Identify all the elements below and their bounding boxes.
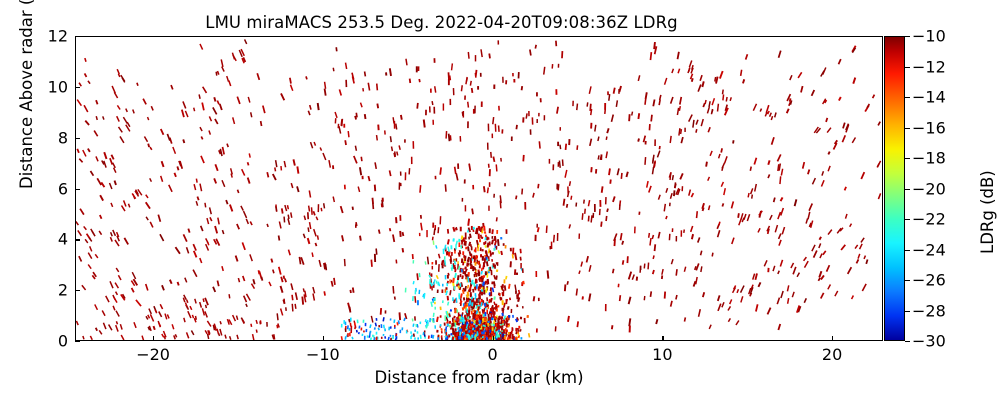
data-point <box>812 178 815 184</box>
data-point <box>708 127 710 132</box>
data-point <box>839 97 841 101</box>
data-point <box>350 307 351 313</box>
data-point <box>468 263 469 265</box>
data-point <box>253 279 254 284</box>
data-point <box>611 115 613 122</box>
x-tick-mark <box>323 336 324 341</box>
data-point <box>290 78 291 84</box>
data-point <box>375 162 376 168</box>
data-point <box>150 178 152 181</box>
data-point <box>82 285 86 290</box>
data-point <box>756 304 758 311</box>
data-point <box>437 317 438 322</box>
data-point <box>267 172 268 177</box>
data-point <box>755 273 757 279</box>
data-point <box>638 75 639 81</box>
data-point <box>356 113 357 118</box>
data-point <box>737 289 738 293</box>
data-point <box>217 329 219 335</box>
colorbar-tick-label: −12 <box>912 57 946 76</box>
data-point <box>388 337 389 340</box>
data-point <box>174 335 175 339</box>
data-point <box>200 44 203 50</box>
data-point <box>210 207 212 214</box>
data-point <box>368 83 369 91</box>
colorbar-tick-label: −30 <box>912 332 946 351</box>
data-point <box>471 244 472 247</box>
plot-axes <box>75 36 883 341</box>
data-point <box>83 336 84 339</box>
data-point <box>410 79 411 83</box>
data-point <box>843 123 845 129</box>
data-point <box>538 184 539 188</box>
data-point <box>626 172 627 177</box>
data-point <box>192 315 193 318</box>
data-point <box>675 182 676 187</box>
data-point <box>308 111 310 115</box>
data-point <box>379 230 380 234</box>
data-point <box>183 139 184 143</box>
data-point <box>781 169 782 176</box>
data-point <box>670 136 671 143</box>
data-point <box>375 327 376 329</box>
y-tick-mark <box>75 87 80 88</box>
data-point <box>718 304 721 311</box>
data-point <box>579 271 580 274</box>
data-point <box>860 244 863 249</box>
data-point <box>233 315 236 321</box>
y-tick-mark <box>75 290 80 291</box>
data-point <box>90 246 92 251</box>
data-point <box>376 249 377 255</box>
data-point <box>758 282 760 286</box>
data-point <box>161 129 164 135</box>
data-point <box>390 228 391 231</box>
data-point <box>539 141 540 148</box>
data-point <box>90 336 92 340</box>
colorbar-tick-label: −16 <box>912 118 946 137</box>
data-point <box>707 107 709 113</box>
data-point <box>475 295 476 299</box>
data-point <box>650 291 651 297</box>
data-point <box>662 269 663 275</box>
data-point <box>146 202 150 208</box>
data-point <box>213 107 217 114</box>
data-point <box>95 304 98 309</box>
data-point <box>464 240 465 243</box>
data-point <box>632 112 633 116</box>
data-point <box>167 134 169 141</box>
data-point <box>237 97 240 104</box>
data-point <box>95 254 98 258</box>
data-point <box>470 320 471 325</box>
data-point <box>329 160 330 168</box>
y-tick-label: 4 <box>28 230 68 249</box>
data-point <box>424 119 425 127</box>
data-point <box>146 316 148 319</box>
data-point <box>589 86 591 93</box>
data-point <box>150 314 153 321</box>
data-point <box>812 245 815 251</box>
data-point <box>250 254 252 261</box>
data-point <box>171 85 173 89</box>
data-point <box>314 142 315 146</box>
data-point <box>770 215 772 220</box>
data-point <box>741 296 743 302</box>
data-point <box>779 234 781 239</box>
data-point <box>691 193 693 197</box>
data-point <box>489 53 490 58</box>
data-point <box>214 178 216 183</box>
data-point <box>827 128 831 133</box>
data-point <box>461 85 462 91</box>
data-point <box>613 269 614 273</box>
data-point <box>462 236 463 240</box>
data-point <box>779 240 781 246</box>
data-point <box>671 301 672 307</box>
data-point <box>791 263 794 268</box>
data-point <box>293 159 294 165</box>
data-point <box>821 180 824 186</box>
data-point <box>492 229 493 234</box>
data-point <box>492 240 493 245</box>
data-point <box>205 311 207 317</box>
data-point <box>877 161 880 168</box>
data-point <box>676 295 677 299</box>
data-point <box>689 115 692 122</box>
data-point <box>752 195 753 199</box>
data-point <box>325 82 326 89</box>
data-point <box>489 299 490 303</box>
data-point <box>116 292 118 295</box>
data-point <box>779 51 781 58</box>
data-point <box>778 212 781 219</box>
data-point <box>377 104 378 109</box>
data-point <box>245 39 247 44</box>
data-point <box>455 273 456 278</box>
data-point <box>878 193 880 199</box>
data-point <box>148 315 150 319</box>
data-point <box>698 84 701 91</box>
scatter-points-layer <box>76 37 882 340</box>
data-point <box>114 168 116 173</box>
data-point <box>299 257 300 264</box>
data-point <box>526 113 527 118</box>
data-point <box>237 224 239 229</box>
data-point <box>848 267 852 274</box>
data-point <box>855 245 858 249</box>
data-point <box>341 336 342 340</box>
data-point <box>194 108 195 112</box>
data-point <box>495 241 496 246</box>
data-point <box>504 330 505 333</box>
data-point <box>452 63 453 70</box>
data-point <box>591 109 592 115</box>
data-point <box>681 137 683 143</box>
x-tick-label: −10 <box>306 345 340 364</box>
data-point <box>221 59 223 66</box>
data-point <box>751 188 753 194</box>
data-point <box>823 251 826 255</box>
data-point <box>708 177 710 181</box>
data-point <box>284 161 285 167</box>
colorbar-tick-mark <box>905 280 910 281</box>
figure-canvas: LMU miraMACS 253.5 Deg. 2022-04-20T09:08… <box>0 0 1000 400</box>
data-point <box>629 318 630 326</box>
data-point <box>529 333 530 337</box>
data-point <box>600 156 601 160</box>
data-point <box>864 256 865 259</box>
colorbar-tick-mark <box>905 311 910 312</box>
data-point <box>415 296 416 303</box>
data-point <box>438 282 439 286</box>
data-point <box>183 234 186 241</box>
data-point <box>566 144 567 150</box>
y-tick-mark <box>75 239 80 240</box>
data-point <box>748 193 749 197</box>
data-point <box>782 227 784 234</box>
data-point <box>577 321 578 327</box>
data-point <box>530 50 531 56</box>
data-point <box>96 116 97 120</box>
data-point <box>390 68 391 76</box>
data-point <box>209 130 210 134</box>
data-point <box>77 149 79 153</box>
data-point <box>143 99 146 105</box>
data-point <box>700 75 702 81</box>
data-point <box>345 140 346 145</box>
data-point <box>468 246 469 251</box>
data-point <box>696 277 697 284</box>
data-point <box>392 146 393 151</box>
data-point <box>304 216 305 220</box>
data-point <box>435 86 436 92</box>
data-point <box>652 235 653 239</box>
data-point <box>567 204 568 208</box>
data-point <box>279 267 281 275</box>
data-point <box>665 78 667 85</box>
data-point <box>312 207 313 215</box>
data-point <box>151 106 153 110</box>
data-point <box>185 111 187 117</box>
data-point <box>447 336 448 339</box>
data-point <box>124 238 128 245</box>
data-point <box>483 264 484 269</box>
data-point <box>621 233 622 240</box>
data-point <box>142 336 143 340</box>
data-point <box>101 182 104 187</box>
data-point <box>506 325 507 327</box>
data-point <box>774 198 775 203</box>
data-point <box>281 309 283 316</box>
data-point <box>715 77 716 81</box>
data-point <box>788 298 789 304</box>
data-point <box>149 309 151 314</box>
data-point <box>709 101 710 107</box>
data-point <box>238 278 239 282</box>
data-point <box>440 167 441 174</box>
data-point <box>476 70 477 76</box>
data-point <box>390 136 391 142</box>
data-point <box>246 294 250 301</box>
data-point <box>718 104 719 112</box>
data-point <box>731 201 733 208</box>
data-point <box>84 105 88 112</box>
data-point <box>230 205 232 212</box>
data-point <box>292 295 293 300</box>
data-point <box>261 277 262 281</box>
data-point <box>470 234 471 238</box>
data-point <box>516 331 517 334</box>
data-point <box>458 327 459 330</box>
data-point <box>356 222 357 226</box>
data-point <box>291 183 292 188</box>
data-point <box>456 241 457 245</box>
data-point <box>319 260 321 267</box>
data-point <box>518 297 519 301</box>
data-point <box>706 162 707 167</box>
data-point <box>436 275 438 279</box>
data-point <box>504 316 505 320</box>
data-point <box>474 227 475 229</box>
data-point <box>450 259 451 264</box>
data-point <box>588 200 589 206</box>
data-point <box>291 283 293 289</box>
data-point <box>355 146 356 151</box>
data-point <box>502 292 503 295</box>
data-point <box>753 274 755 280</box>
data-point <box>494 296 495 299</box>
data-point <box>493 117 494 124</box>
data-point <box>839 59 841 64</box>
x-tick-mark <box>493 336 494 341</box>
data-point <box>285 279 286 283</box>
data-point <box>160 234 164 241</box>
data-point <box>89 238 91 241</box>
data-point <box>94 131 97 137</box>
data-point <box>722 203 723 206</box>
data-point <box>436 245 437 248</box>
data-point <box>771 116 772 120</box>
data-point <box>568 316 569 322</box>
data-point <box>804 257 807 261</box>
data-point <box>190 306 192 310</box>
data-point <box>227 76 229 82</box>
data-point <box>651 115 652 122</box>
data-point <box>485 231 486 233</box>
data-point <box>567 281 568 284</box>
data-point <box>548 270 549 278</box>
data-point <box>271 259 272 263</box>
data-point <box>819 243 821 248</box>
data-point <box>243 276 245 281</box>
data-point <box>467 308 468 313</box>
data-point <box>488 243 489 248</box>
data-point <box>449 313 450 316</box>
data-point <box>396 337 397 340</box>
data-point <box>132 288 134 292</box>
data-point <box>747 214 749 221</box>
data-point <box>188 311 191 318</box>
data-point <box>242 319 244 323</box>
data-point <box>483 281 484 285</box>
data-point <box>754 158 756 165</box>
data-point <box>718 230 720 237</box>
data-point <box>297 166 298 173</box>
colorbar-tick-label: −10 <box>912 27 946 46</box>
data-point <box>99 330 102 334</box>
data-point <box>277 325 278 328</box>
data-point <box>645 98 646 105</box>
data-point <box>609 168 610 175</box>
data-point <box>598 155 599 159</box>
data-point <box>671 97 673 104</box>
data-point <box>591 215 592 222</box>
data-point <box>878 122 880 126</box>
data-point <box>842 135 845 142</box>
data-point <box>652 167 653 174</box>
data-point <box>205 203 206 208</box>
data-point <box>569 224 570 228</box>
data-point <box>758 228 760 232</box>
data-point <box>814 250 817 257</box>
data-point <box>136 300 141 306</box>
data-point <box>828 166 830 171</box>
data-point <box>246 219 248 224</box>
data-point <box>496 217 497 221</box>
data-point <box>85 239 88 243</box>
data-point <box>709 205 710 210</box>
data-point <box>402 232 403 236</box>
colorbar-tick-label: −20 <box>912 179 946 198</box>
data-point <box>563 199 564 206</box>
data-point <box>433 279 435 285</box>
data-point <box>463 290 464 294</box>
data-point <box>798 72 802 78</box>
data-point <box>520 329 521 331</box>
data-point <box>504 303 505 308</box>
data-point <box>478 306 479 310</box>
data-point <box>365 71 366 76</box>
data-point <box>88 264 91 268</box>
data-point <box>417 103 418 109</box>
data-point <box>417 324 418 327</box>
data-point <box>487 304 488 307</box>
data-point <box>390 170 391 176</box>
data-point <box>653 270 654 274</box>
data-point <box>276 160 277 167</box>
data-point <box>241 206 243 211</box>
x-tick-label: 20 <box>822 345 842 364</box>
data-point <box>97 178 101 185</box>
data-point <box>243 211 246 218</box>
data-point <box>678 69 679 74</box>
data-point <box>203 87 207 93</box>
data-point <box>461 294 462 299</box>
data-point <box>486 288 487 293</box>
data-point <box>629 272 631 280</box>
data-point <box>120 324 122 329</box>
data-point <box>159 311 162 316</box>
data-point <box>209 116 211 121</box>
data-point <box>468 52 469 59</box>
data-point <box>199 94 200 98</box>
data-point <box>360 236 361 241</box>
data-point <box>790 75 792 80</box>
data-point <box>370 325 371 328</box>
data-point <box>703 292 704 297</box>
data-point <box>716 77 718 84</box>
